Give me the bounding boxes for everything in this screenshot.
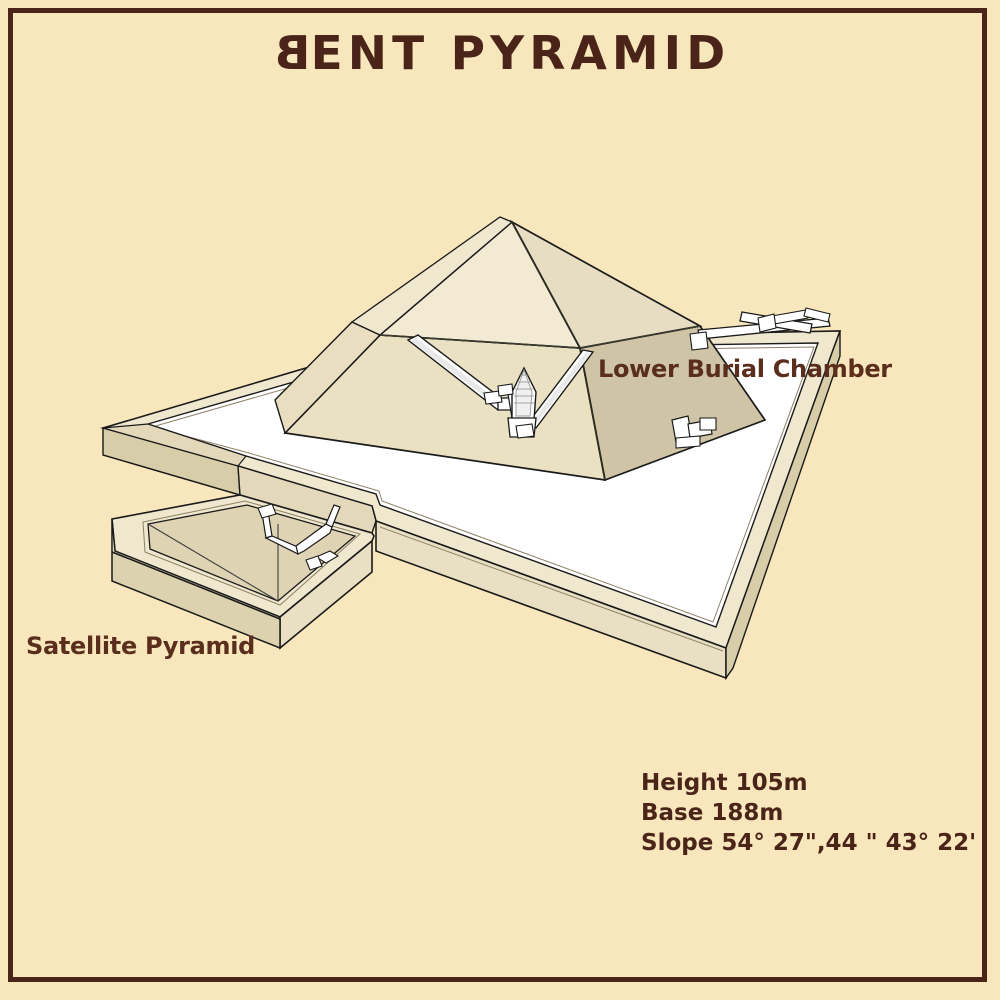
pyramid-stats-block: Height 105m Base 188m Slope 54° 27",44 "… xyxy=(641,768,976,858)
stat-base: Base 188m xyxy=(641,798,976,828)
stat-height: Height 105m xyxy=(641,768,976,798)
chamber-fitting-c xyxy=(516,424,534,438)
chamber-fitting-b xyxy=(498,384,513,396)
stat-slope: Slope 54° 27",44 " 43° 22' xyxy=(641,828,976,858)
label-lower-burial-chamber: Lower Burial Chamber xyxy=(598,355,892,383)
label-satellite-pyramid: Satellite Pyramid xyxy=(26,632,255,660)
satellite-enclosure xyxy=(112,495,374,648)
diagram-page: BENT PYRAMID xyxy=(0,0,1000,1000)
